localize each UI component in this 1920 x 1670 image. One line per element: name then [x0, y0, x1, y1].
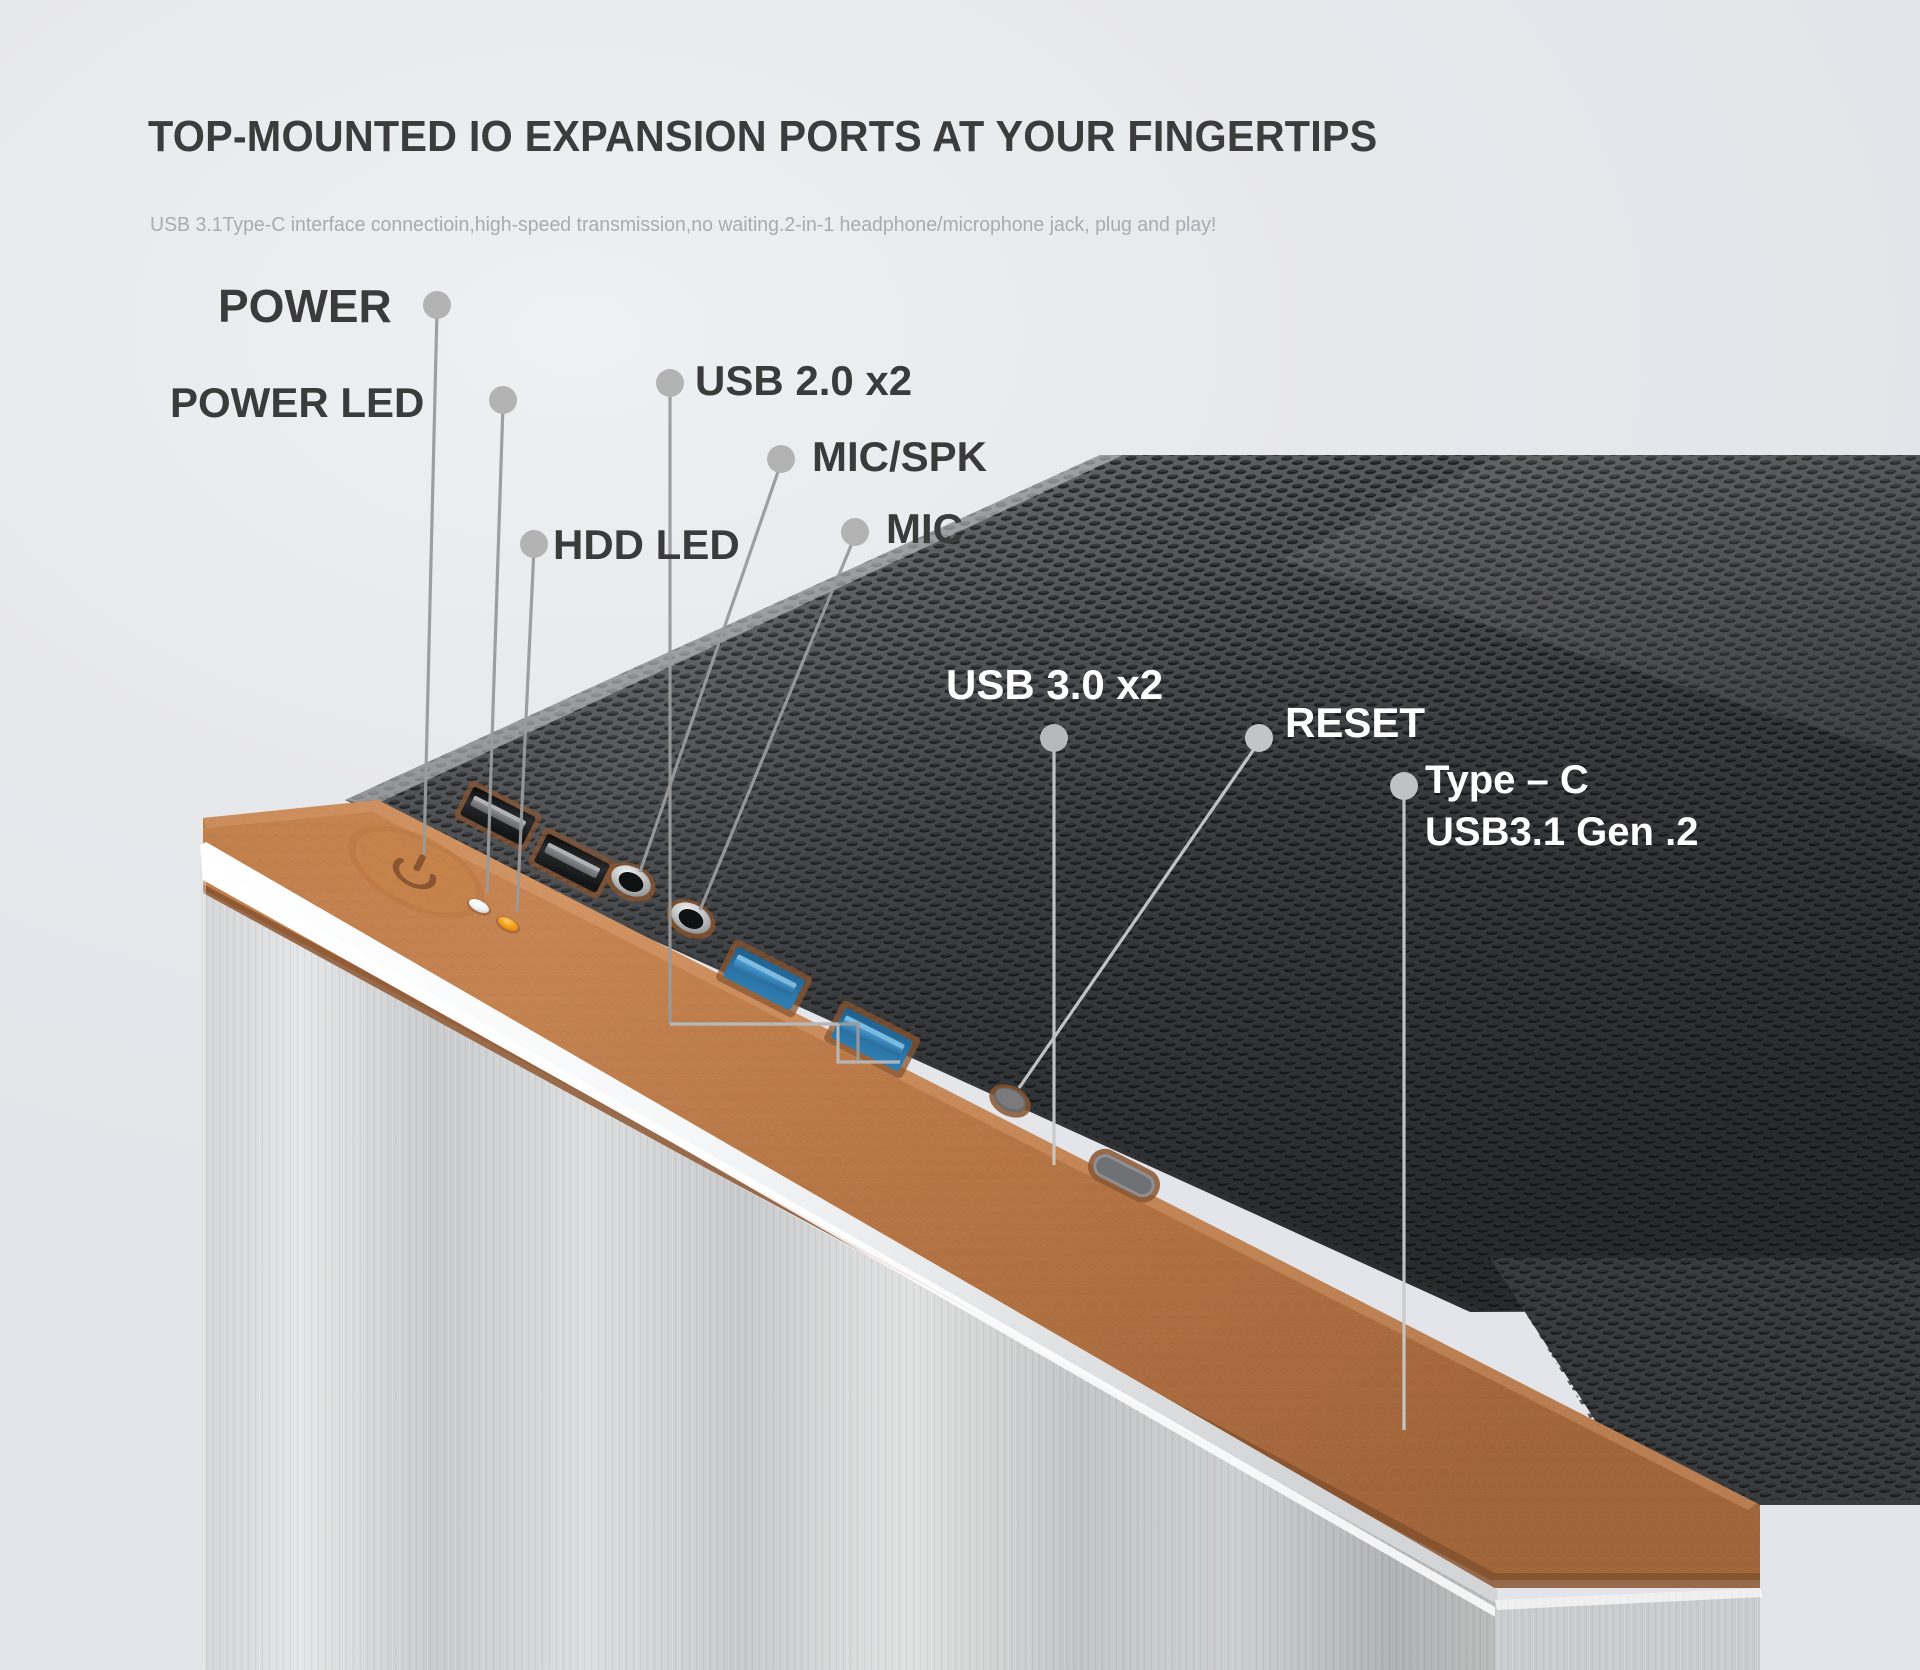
callout-labels: POWER POWER LED HDD LED USB 2.0 x2 MIC/S… [0, 0, 1920, 1670]
callout-label-power: POWER [218, 282, 392, 332]
callout-label-typec-line2: USB3.1 Gen .2 [1425, 812, 1698, 854]
callout-label-typec-line1: Type – C [1425, 760, 1589, 802]
callout-label-power-led: POWER LED [170, 380, 424, 425]
callout-label-mic: MIC [886, 506, 963, 551]
callout-label-usb20: USB 2.0 x2 [695, 358, 912, 403]
callout-label-reset: RESET [1285, 700, 1425, 745]
callout-label-mic-spk: MIC/SPK [812, 434, 987, 479]
callout-label-usb30: USB 3.0 x2 [946, 662, 1163, 707]
callout-label-hdd-led: HDD LED [553, 522, 740, 567]
